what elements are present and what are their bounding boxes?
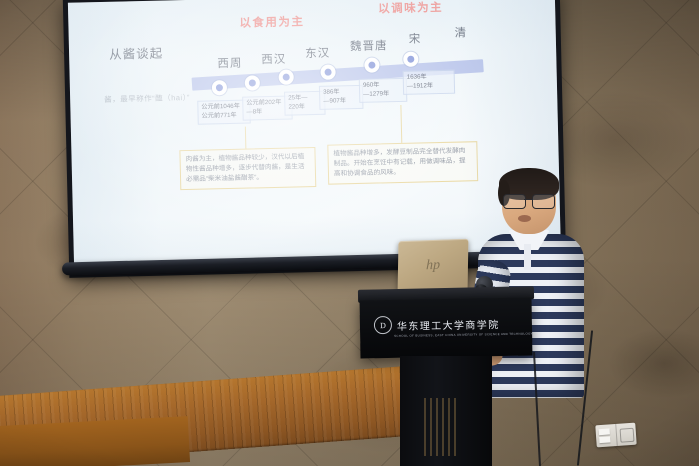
podium-panel: D 华东理工大学商学院 SCHOOL OF BUSINESS, EAST CHI…	[360, 298, 533, 359]
glasses-lens-left	[503, 194, 526, 209]
era-label-0: 西周	[217, 55, 242, 72]
presenter-placket	[524, 244, 531, 270]
timeline-date-5: 1636年 —1912年	[403, 70, 456, 95]
slide-title: 从酱谈起	[109, 43, 163, 63]
hp-logo-icon: hp	[426, 258, 440, 275]
light-switch-top[interactable]	[599, 428, 610, 435]
note-stem-left	[245, 127, 247, 149]
note-left: 肉酱为主，植物酱品种较少，汉代以后植物性酱品种增多，逐步代替肉酱，是生活必需品“…	[179, 147, 316, 190]
timeline-node-0	[212, 80, 227, 95]
era-label-1: 西汉	[261, 51, 286, 68]
wall-switch-plate[interactable]	[595, 423, 636, 448]
era-label-4: 宋	[409, 30, 422, 46]
podium-logo: D 华东理工大学商学院	[374, 314, 500, 334]
wood-floor	[0, 416, 190, 466]
socket-half[interactable]	[616, 423, 637, 446]
slide-subtitle: 酱，最早称作“醢（hai）”	[104, 92, 190, 105]
laptop: hp	[398, 239, 469, 294]
lecture-hall-photo: 从酱谈起 酱，最早称作“醢（hai）” 以食用为主 以调味为主 西周 西汉 东汉…	[0, 0, 699, 466]
glasses-icon	[503, 194, 555, 207]
podium-vent-slats	[424, 398, 460, 456]
switch-half[interactable]	[595, 424, 617, 447]
glasses-lens-right	[532, 194, 555, 209]
timeline-node-1	[245, 75, 260, 90]
era-label-2: 东汉	[305, 45, 330, 62]
era-label-5: 清	[455, 24, 468, 40]
note-stem-right	[400, 105, 402, 143]
timeline-date-3: 386年 —907年	[319, 85, 364, 110]
era-label-3: 魏晋唐	[350, 37, 388, 54]
caption-seasoning-use: 以调味为主	[378, 0, 443, 16]
timeline-date-4: 960年 —1279年	[359, 78, 408, 103]
presenter-mouth	[518, 215, 531, 222]
power-socket-icon[interactable]	[619, 428, 634, 443]
podium-name-cn: 华东理工大学商学院	[397, 316, 500, 333]
note-right: 植物酱品种增多，发酵豆制品完全替代发酵肉制品。开始在烹饪中有记载，用做调味品，提…	[327, 141, 478, 184]
university-seal-icon: D	[374, 316, 392, 334]
light-switch-bottom[interactable]	[599, 436, 610, 443]
